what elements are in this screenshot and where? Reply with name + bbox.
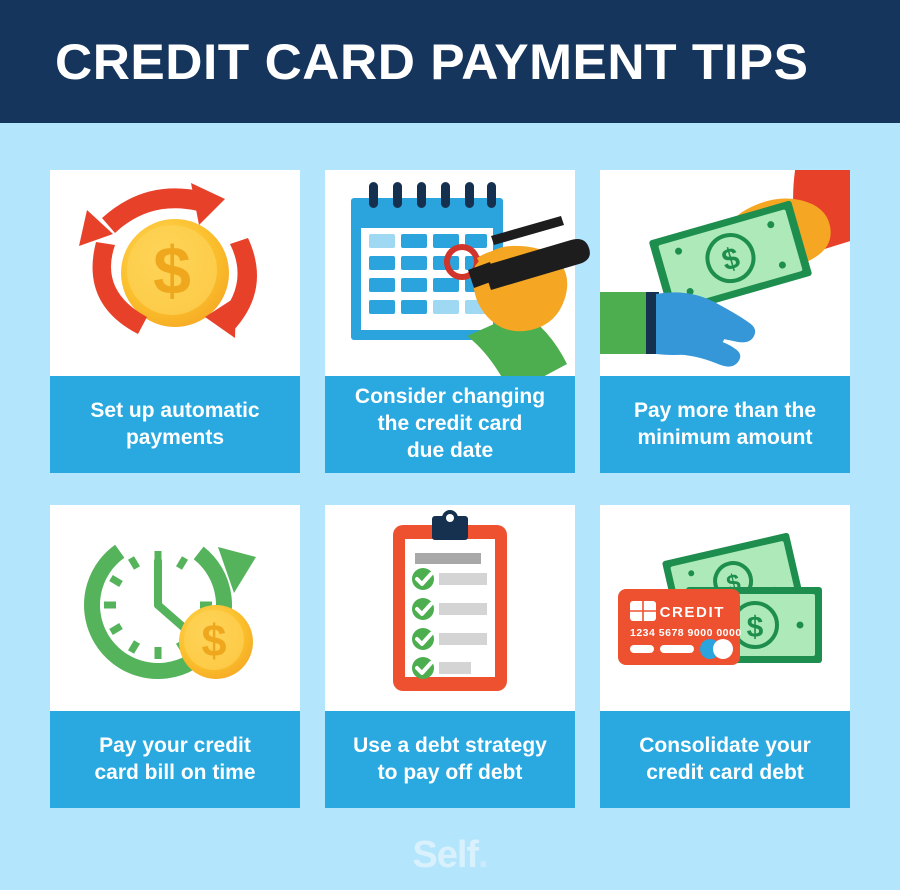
credit-card-number: 1234 5678 9000 0000 — [630, 627, 742, 639]
card-caption: Use a debt strategy to pay off debt — [325, 711, 575, 808]
page-footer: Self. — [0, 820, 900, 890]
caption-line: Consider changing — [355, 384, 545, 411]
credit-card-label: CREDIT — [660, 604, 725, 621]
caption-line: due date — [355, 438, 545, 465]
svg-text:$: $ — [153, 233, 191, 309]
caption-line: minimum amount — [634, 425, 816, 452]
card-caption: Pay your credit card bill on time — [50, 711, 300, 808]
tip-card-automatic-payments[interactable]: $ Set up automatic — [50, 170, 300, 473]
self-logo[interactable]: Self. — [412, 834, 487, 877]
clipboard-checklist-icon — [325, 505, 575, 711]
credit-card-cash-icon: $ $ CREDIT — [600, 505, 850, 711]
tip-card-debt-strategy[interactable]: Use a debt strategy to pay off debt — [325, 505, 575, 808]
handing-cash-icon: $ — [600, 170, 850, 376]
caption-line: card bill on time — [94, 760, 255, 787]
tip-card-consolidate-debt[interactable]: $ $ CREDIT — [600, 505, 850, 808]
tip-card-pay-on-time[interactable]: $ Pay your credit card bill on time — [50, 505, 300, 808]
caption-line: Set up automatic — [90, 398, 259, 425]
card-caption: Set up automatic payments — [50, 376, 300, 473]
card-caption: Consider changing the credit card due da… — [325, 376, 575, 473]
caption-line: credit card debt — [639, 760, 811, 787]
card-art-area: $ $ CREDIT — [600, 505, 850, 711]
card-art-area: $ — [50, 170, 300, 376]
card-caption: Consolidate your credit card debt — [600, 711, 850, 808]
logo-text: Self — [412, 834, 478, 876]
page-title: CREDIT CARD PAYMENT TIPS — [55, 33, 808, 91]
card-art-area: $ — [600, 170, 850, 376]
caption-line: Pay more than the — [634, 398, 816, 425]
card-art-area: $ — [50, 505, 300, 711]
card-caption: Pay more than the minimum amount — [600, 376, 850, 473]
tip-card-pay-more-than-minimum[interactable]: $ Pay more than the minimum amount — [600, 170, 850, 473]
tips-grid: $ Set up automatic — [50, 170, 850, 808]
caption-line: the credit card — [355, 411, 545, 438]
caption-line: Use a debt strategy — [353, 733, 547, 760]
caption-line: Consolidate your — [639, 733, 811, 760]
page-header: CREDIT CARD PAYMENT TIPS — [0, 0, 900, 123]
svg-text:$: $ — [201, 615, 226, 666]
clock-coin-icon: $ — [50, 505, 300, 711]
caption-line: payments — [90, 425, 259, 452]
tip-card-due-date[interactable]: Consider changing the credit card due da… — [325, 170, 575, 473]
caption-line: Pay your credit — [94, 733, 255, 760]
caption-line: to pay off debt — [353, 760, 547, 787]
recycle-coin-icon: $ — [50, 170, 300, 376]
logo-dot: . — [478, 834, 488, 876]
svg-text:$: $ — [747, 611, 764, 644]
card-art-area — [325, 505, 575, 711]
card-art-area — [325, 170, 575, 376]
